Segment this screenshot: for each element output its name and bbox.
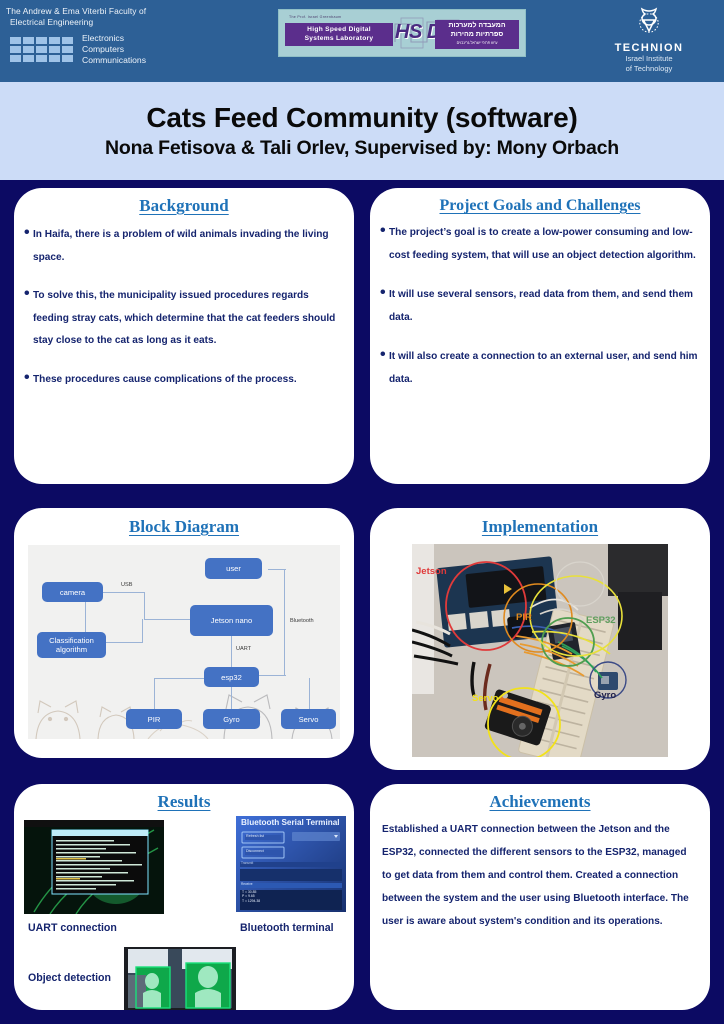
bt-refresh-button[interactable]: Refresh list — [246, 834, 264, 838]
faculty-dept-communications: Communications — [82, 55, 146, 66]
edge-classification-v — [142, 619, 143, 643]
block-node-pir[interactable]: PIR — [126, 709, 182, 729]
background-bullet-1: • In Haifa, there is a problem of wild a… — [24, 224, 342, 269]
section-heading-results: Results — [14, 784, 354, 812]
edge-pir-v — [154, 678, 155, 710]
hsdsl-left-line1: High Speed Digital — [307, 26, 371, 35]
annotation-label-jetson: Jetson — [416, 566, 447, 577]
achievements-body: Established a UART connection between th… — [370, 812, 710, 933]
result-caption-bluetooth: Bluetooth terminal — [240, 922, 334, 934]
goals-bullet-1-text: The project’s goal is to create a low-po… — [389, 222, 700, 267]
hsdsl-hebrew-label: המעבדה למערכות ספרתיות מהירות ע"ש פרופ' … — [435, 20, 519, 49]
block-node-classification[interactable]: Classification algorithm — [37, 632, 106, 658]
edge-esp32-bluetooth — [258, 675, 286, 676]
edge-gyro-v — [231, 687, 232, 709]
block-diagram-canvas: camera Classification algorithm user Jet… — [28, 545, 340, 739]
block-node-user[interactable]: user — [205, 558, 262, 579]
hsdsl-tagline: The Prof. Israel Greenbaum — [289, 15, 341, 19]
bullet-icon: • — [380, 284, 389, 329]
hardware-setup-photo-art — [412, 544, 668, 757]
hsdsl-hebrew-sub: ע"ש פרופ' ישראל גרינבוים — [457, 39, 498, 48]
edge-user-bluetooth-v — [284, 569, 285, 676]
technion-sub-line2: of Technology — [625, 64, 672, 74]
bullet-icon: • — [24, 224, 33, 269]
section-block-diagram: Block Diagram — [14, 508, 354, 758]
faculty-emblem-row: Electronics Computers Communications — [6, 33, 230, 67]
section-heading-goals: Project Goals and Challenges — [370, 188, 710, 215]
edge-classification-to-camera — [85, 601, 86, 633]
technion-subtitle: Israel Institute of Technology — [625, 54, 672, 74]
faculty-dept-computers: Computers — [82, 44, 146, 55]
uart-screenshot-art — [24, 820, 164, 914]
background-bullet-1-text: In Haifa, there is a problem of wild ani… — [33, 224, 342, 269]
background-bullet-2: • To solve this, the municipality issued… — [24, 285, 342, 353]
hsdsl-hebrew-line1: המעבדה למערכות — [448, 21, 505, 30]
edge-servo-v — [309, 678, 310, 709]
goals-bullet-2-text: It will use several sensors, read data f… — [389, 284, 700, 329]
result-image-object-detection — [124, 947, 236, 1010]
goals-bullet-2: • It will use several sensors, read data… — [380, 284, 700, 329]
section-background: Background • In Haifa, there is a proble… — [14, 188, 354, 484]
edge-camera-to-jetson-v — [144, 592, 145, 620]
section-heading-block-diagram: Block Diagram — [14, 508, 354, 537]
bt-receive-label: Receive — [241, 882, 253, 886]
bt-terminal-title: Bluetooth Serial Terminal — [241, 818, 340, 827]
faculty-name-line2: Electrical Engineering — [6, 17, 230, 28]
goals-body: • The project’s goal is to create a low-… — [370, 215, 710, 391]
edge-user-in — [268, 569, 286, 570]
technion-sub-line1: Israel Institute — [625, 54, 672, 64]
hsdsl-hebrew-line2: ספרתיות מהירות — [451, 30, 504, 39]
faculty-grid-icon — [10, 37, 73, 62]
technion-wordmark: TECHNION — [615, 42, 684, 54]
edge-jetson-to-esp32 — [231, 636, 232, 670]
implementation-photo: Jetson PIR ESP32 Servo Gyro — [412, 544, 668, 757]
result-caption-uart: UART connection — [28, 922, 117, 934]
cats-illustration — [28, 673, 340, 739]
block-node-servo[interactable]: Servo — [281, 709, 336, 729]
poster-root: The Andrew & Ema Viterbi Faculty of Elec… — [0, 0, 724, 1024]
annotation-label-gyro: Gyro — [594, 690, 616, 701]
block-node-gyro[interactable]: Gyro — [203, 709, 260, 729]
annotation-label-esp32: ESP32 — [586, 615, 616, 626]
edge-camera-to-jetson-h — [103, 592, 145, 593]
edge-label-bluetooth: Bluetooth — [290, 618, 314, 624]
section-achievements: Achievements Established a UART connecti… — [370, 784, 710, 1010]
edge-classification-h — [106, 642, 143, 643]
section-results: Results — [14, 784, 354, 1010]
background-bullet-3-text: These procedures cause complications of … — [33, 369, 297, 392]
goals-bullet-1: • The project’s goal is to create a low-… — [380, 222, 700, 267]
faculty-name-line1: The Andrew & Ema Viterbi Faculty of — [6, 6, 230, 17]
faculty-logo-block: The Andrew & Ema Viterbi Faculty of Elec… — [0, 0, 230, 67]
result-image-uart-connection — [24, 820, 164, 914]
background-body: • In Haifa, there is a problem of wild a… — [14, 216, 354, 391]
goals-bullet-3: • It will also create a connection to an… — [380, 346, 700, 391]
authors-line: Nona Fetisova & Tali Orlev, Supervised b… — [105, 137, 619, 160]
bt-receive-lines: T = 30.85 P = 9.65 T = 1294.38 — [242, 890, 260, 903]
bt-disconnect-button[interactable]: Disconnect — [246, 849, 264, 853]
edge-label-uart: UART — [236, 646, 251, 652]
bullet-icon: • — [24, 285, 33, 353]
background-bullet-3: • These procedures cause complications o… — [24, 369, 342, 392]
bt-line-3: T = 1294.38 — [242, 899, 260, 903]
result-caption-object-detection: Object detection — [28, 972, 111, 984]
technion-logo-block: TECHNION Israel Institute of Technology — [574, 0, 724, 74]
hsdsl-logo: The Prof. Israel Greenbaum High Speed Di… — [278, 9, 526, 57]
page-title: Cats Feed Community (software) — [146, 102, 577, 134]
section-project-goals: Project Goals and Challenges • The proje… — [370, 188, 710, 484]
annotation-label-pir: PIR — [516, 612, 532, 623]
section-heading-achievements: Achievements — [370, 784, 710, 812]
edge-to-jetson-in — [144, 619, 190, 620]
technion-emblem-icon — [634, 6, 664, 40]
hsdsl-left-label: High Speed Digital Systems Laboratory — [285, 23, 393, 46]
faculty-departments: Electronics Computers Communications — [82, 33, 146, 67]
bullet-icon: • — [24, 369, 33, 392]
block-node-camera[interactable]: camera — [42, 582, 103, 602]
poster-header: The Andrew & Ema Viterbi Faculty of Elec… — [0, 0, 724, 82]
block-node-esp32[interactable]: esp32 — [204, 667, 259, 687]
faculty-dept-electronics: Electronics — [82, 33, 146, 44]
section-heading-implementation: Implementation — [370, 508, 710, 537]
bt-transmit-label: Transmit — [241, 861, 253, 865]
lab-logo-block: The Prof. Israel Greenbaum High Speed Di… — [230, 0, 574, 57]
achievements-text: Established a UART connection between th… — [382, 818, 698, 933]
bullet-icon: • — [380, 346, 389, 391]
section-implementation: Implementation — [370, 508, 710, 770]
result-image-bluetooth-terminal: Bluetooth Serial Terminal Refresh list D… — [236, 816, 346, 912]
object-detection-art — [124, 947, 236, 1010]
poster-title-bar: Cats Feed Community (software) Nona Feti… — [0, 82, 724, 180]
section-heading-background: Background — [14, 188, 354, 216]
hsdsl-left-line2: Systems Laboratory — [305, 35, 374, 44]
block-node-jetson-nano[interactable]: Jetson nano — [190, 605, 273, 636]
annotation-label-servo: Servo — [472, 693, 498, 704]
background-bullet-2-text: To solve this, the municipality issued p… — [33, 285, 342, 353]
edge-label-usb: USB — [121, 582, 133, 588]
goals-bullet-3-text: It will also create a connection to an e… — [389, 346, 700, 391]
bullet-icon: • — [380, 222, 389, 267]
